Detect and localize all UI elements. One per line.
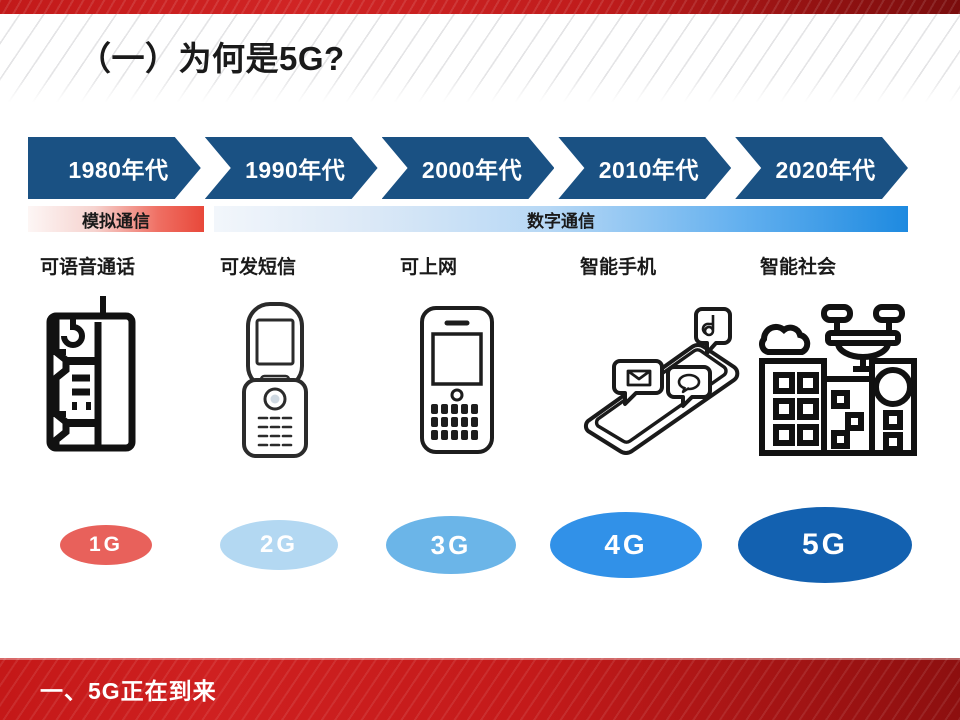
generation-badge-4g[interactable]: 4G [550, 512, 702, 578]
analog-band: 模拟通信 [28, 206, 204, 232]
column-label: 可语音通话 [40, 252, 135, 279]
generation-label: 2G [260, 531, 298, 559]
timeline-label: 2000年代 [422, 151, 522, 185]
generation-badge-3g[interactable]: 3G [386, 516, 516, 574]
generation-badge-2g[interactable]: 2G [220, 520, 338, 570]
generation-label: 3G [431, 530, 472, 561]
timeline-label: 1990年代 [245, 151, 345, 185]
qwerty-phone-icon [388, 292, 568, 467]
column-label: 智能社会 [760, 252, 836, 279]
generation-badge-5g[interactable]: 5G [738, 507, 912, 583]
smartphone-messages-icon [568, 292, 748, 467]
timeline-label: 2020年代 [776, 151, 876, 185]
column-label: 可上网 [400, 252, 457, 279]
generation-label: 5G [802, 528, 848, 562]
page-title: （一）为何是5G? [78, 32, 345, 80]
smart-city-drone-icon [748, 292, 928, 467]
brick-phone-icon [28, 292, 208, 467]
generation-badge-1g[interactable]: 1G [60, 525, 152, 565]
footer-section-title: 一、5G正在到来 [40, 672, 217, 706]
timeline-label: 1980年代 [68, 151, 168, 185]
digital-band: 数字通信 [214, 206, 908, 232]
timeline-segment-2000s[interactable]: 2000年代 [382, 137, 555, 199]
timeline-label: 2010年代 [599, 151, 699, 185]
top-red-rule [0, 0, 960, 14]
slide-root: （一）为何是5G? 1980年代 1990年代 2000年代 2010年代 20… [0, 0, 960, 720]
timeline-segment-1980s[interactable]: 1980年代 [28, 137, 201, 199]
footer-divider [0, 658, 960, 660]
flip-phone-icon [208, 292, 388, 467]
decade-timeline: 1980年代 1990年代 2000年代 2010年代 2020年代 [28, 137, 908, 199]
timeline-segment-1990s[interactable]: 1990年代 [205, 137, 378, 199]
analog-band-label: 模拟通信 [82, 207, 150, 232]
generation-badges: 1G 2G 3G 4G 5G [28, 495, 928, 595]
generation-label: 1G [89, 533, 123, 557]
timeline-segment-2020s[interactable]: 2020年代 [735, 137, 908, 199]
column-label: 智能手机 [580, 252, 656, 279]
timeline-segment-2010s[interactable]: 2010年代 [558, 137, 731, 199]
digital-band-label: 数字通信 [527, 207, 595, 232]
communication-type-bands: 模拟通信 数字通信 [28, 206, 908, 232]
column-label: 可发短信 [220, 252, 296, 279]
generation-label: 4G [604, 529, 647, 561]
slide-footer: 一、5G正在到来 [0, 658, 960, 720]
